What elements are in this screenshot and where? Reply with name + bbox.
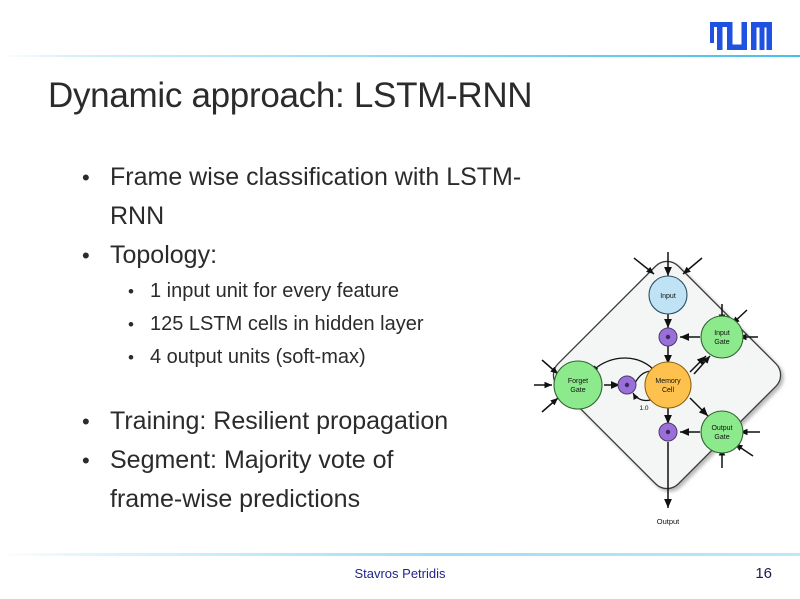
bullet-text: 1 input unit for every feature [150,275,552,308]
tum-logo-icon [710,22,772,50]
sub-bullet-item: • 125 LSTM cells in hidden layer [128,308,552,341]
sub-bullet-item: • 1 input unit for every feature [128,275,552,308]
bullet-marker: • [82,236,110,275]
sub-bullet-item: • 4 output units (soft-max) [128,341,552,374]
node-memory-cell-label-line1: Memory [655,378,681,385]
footer-page-number: 16 [755,565,772,582]
node-input: Input [649,276,687,314]
bullet-continuation-text: frame-wise predictions [110,480,552,519]
bullet-text: Segment: Majority vote of [110,441,552,480]
bullet-text: 4 output units (soft-max) [150,341,552,374]
node-output-gate-label-line1: Output [711,425,732,432]
header-divider [0,55,800,57]
node-input-gate-label-line2: Gate [714,339,729,346]
node-output-gate: Output Gate [701,411,743,453]
bullet-marker: • [128,341,150,374]
lstm-memory-block-diagram: 1.0 Outpu [534,252,790,540]
bullet-marker: • [82,402,110,441]
footer-author: Stavros Petridis [0,566,800,581]
output-label: Output [657,517,680,526]
node-forget-gate-label-line2: Gate [570,387,585,394]
bullet-marker: • [82,158,110,197]
bullet-text: Frame wise classification with LSTM-RNN [110,158,552,236]
bullet-item: • Frame wise classification with LSTM-RN… [82,158,552,236]
bullet-text: 125 LSTM cells in hidden layer [150,308,552,341]
footer-divider [0,553,800,556]
bullet-marker: • [82,441,110,480]
bullet-item: • Training: Resilient propagation [82,402,552,441]
input-incoming-arrows [634,252,702,276]
multiply-node-input [659,328,677,346]
multiply-node-output [659,423,677,441]
node-output-gate-label-line2: Gate [714,434,729,441]
bullet-text: Topology: [110,236,552,275]
multiply-node-forget [618,376,636,394]
bullet-text: Training: Resilient propagation [110,402,552,441]
node-input-gate-label-line1: Input [714,330,730,337]
node-forget-gate: Forget Gate [554,361,602,409]
bullet-marker: • [128,275,150,308]
slide-canvas: Dynamic approach: LSTM-RNN • Frame wise … [0,0,800,599]
bullet-item: • Segment: Majority vote of [82,441,552,480]
node-input-label: Input [660,293,676,300]
bullet-marker: • [128,308,150,341]
recurrent-weight-label: 1.0 [639,405,648,412]
node-forget-gate-label-line1: Forget [568,378,588,385]
node-memory-cell-label-line2: Cell [662,387,675,394]
node-input-gate: Input Gate [701,316,743,358]
bullet-spacer [82,374,552,402]
tum-logo [710,22,772,50]
node-memory-cell: Memory Cell [645,362,691,408]
bullet-list: • Frame wise classification with LSTM-RN… [82,158,552,519]
page-title: Dynamic approach: LSTM-RNN [48,76,532,116]
bullet-item: • Topology: [82,236,552,275]
